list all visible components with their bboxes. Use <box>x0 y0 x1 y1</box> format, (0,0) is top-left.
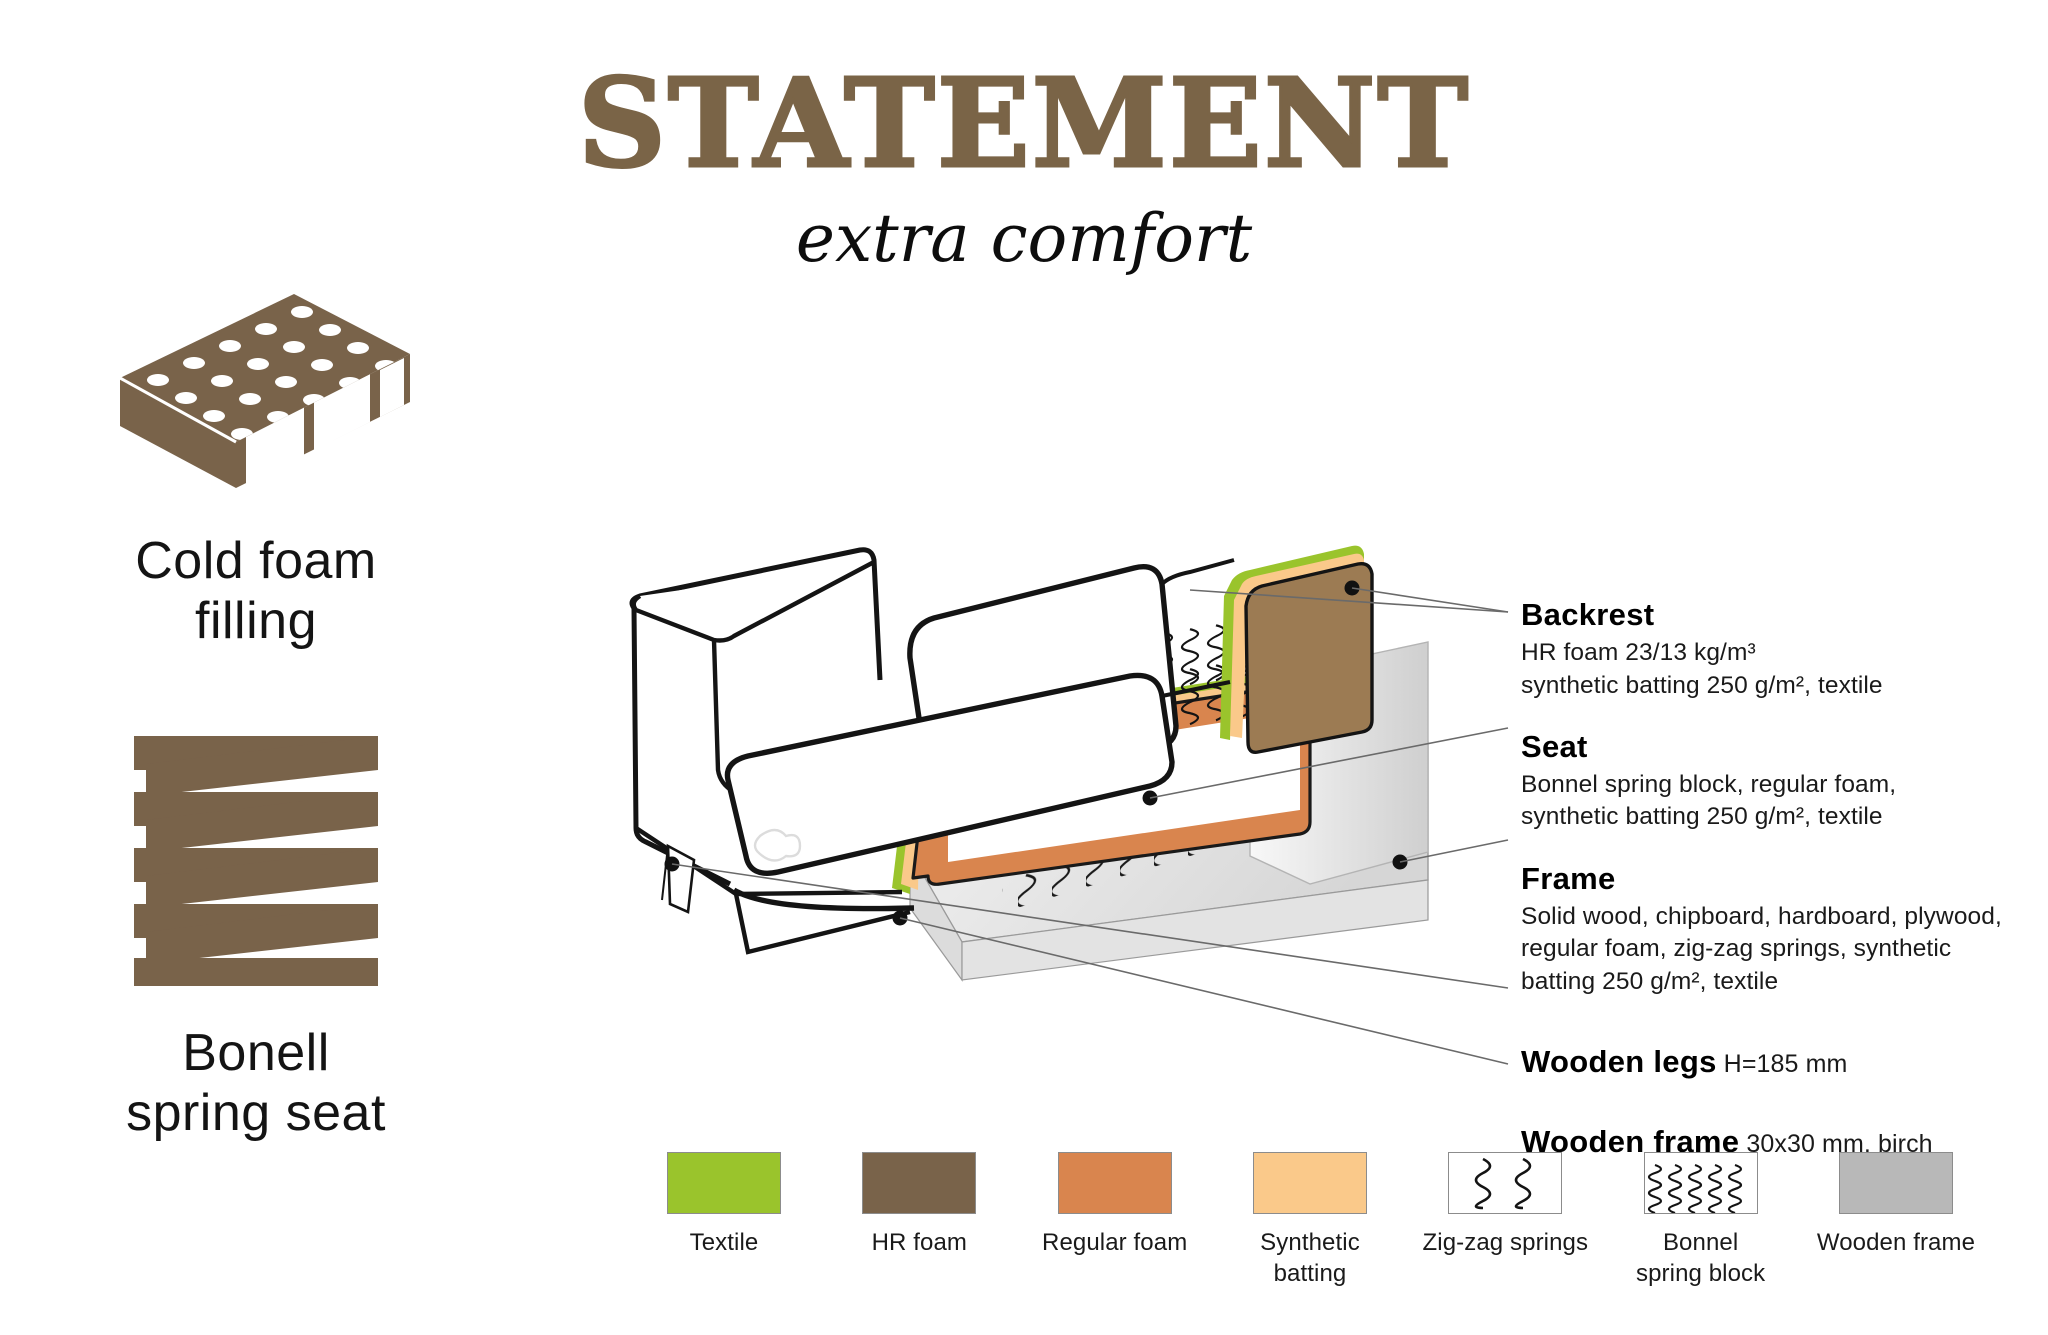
bonell-caption-line2: spring seat <box>46 1083 466 1143</box>
annotation-frame-body: Solid wood, chipboard, hardboard, plywoo… <box>1521 901 2021 998</box>
annotation-frame-line-2: regular foam, zig-zag springs, synthetic <box>1521 933 2021 965</box>
annotation-backrest: Backrest HR foam 23/13 kg/m³ synthetic b… <box>1521 596 2021 702</box>
legend-label-hr-foam: HR foam <box>872 1227 967 1258</box>
annotation-wooden-legs-title: Wooden legs <box>1521 1044 1717 1079</box>
annotation-backrest-title: Backrest <box>1521 596 2021 633</box>
legend-item-bonnel-spring-block: Bonnel spring block <box>1617 1152 1785 1289</box>
legend-label-bonnel-spring-block: Bonnel spring block <box>1636 1227 1765 1289</box>
cold-foam-block-icon <box>60 250 466 505</box>
annotation-seat-body: Bonnel spring block, regular foam, synth… <box>1521 769 2021 834</box>
legend-label-zig-zag-springs: Zig-zag springs <box>1423 1227 1589 1258</box>
annotation-backrest-line-1: HR foam 23/13 kg/m³ <box>1521 637 2021 669</box>
page-title: STATEMENT <box>0 62 2048 184</box>
annotation-seat-title: Seat <box>1521 728 2021 765</box>
annotation-backrest-body: HR foam 23/13 kg/m³ synthetic batting 25… <box>1521 637 2021 702</box>
legend-label-synthetic-batting: Synthetic batting <box>1226 1227 1394 1289</box>
swatch-zig-zag-springs <box>1448 1152 1562 1214</box>
bonell-spring-caption: Bonell spring seat <box>46 1023 466 1144</box>
swatch-bonnel-spring-block <box>1644 1152 1758 1214</box>
anchor-dot-wooden-frame <box>893 911 908 926</box>
cold-foam-caption-line2: filling <box>46 591 466 651</box>
bonell-spring-icon <box>46 730 466 997</box>
legend-item-wooden-frame: Wooden frame <box>1812 1152 1980 1258</box>
annotation-frame-line-3: batting 250 g/m², textile <box>1521 966 2021 998</box>
legend-item-synthetic-batting: Synthetic batting <box>1226 1152 1394 1289</box>
sofa-cutaway-illustration <box>610 480 1430 990</box>
legend-item-regular-foam: Regular foam <box>1031 1152 1199 1258</box>
annotation-seat-line-1: Bonnel spring block, regular foam, <box>1521 769 2021 801</box>
cold-foam-figure: Cold foam filling <box>46 250 466 652</box>
bonell-spring-figure: Bonell spring seat <box>46 730 466 1144</box>
annotation-frame-title: Frame <box>1521 860 2021 897</box>
legend-label-textile: Textile <box>690 1227 759 1258</box>
cold-foam-caption: Cold foam filling <box>46 531 466 652</box>
title-block: STATEMENT extra comfort <box>0 62 2048 272</box>
annotation-wooden-legs: Wooden legs H=185 mm <box>1521 1044 2021 1080</box>
anchor-dot-legs <box>665 857 680 872</box>
legend-label-wooden-frame: Wooden frame <box>1817 1227 1975 1258</box>
swatch-regular-foam <box>1058 1152 1172 1214</box>
anchor-dot-backrest <box>1345 581 1360 596</box>
materials-legend: Textile HR foam Regular foam Synthetic b… <box>640 1152 1980 1289</box>
legend-label-regular-foam: Regular foam <box>1042 1227 1187 1258</box>
annotation-frame-line-1: Solid wood, chipboard, hardboard, plywoo… <box>1521 901 2021 933</box>
legend-item-hr-foam: HR foam <box>835 1152 1003 1258</box>
legend-item-zig-zag-springs: Zig-zag springs <box>1421 1152 1589 1258</box>
annotation-frame: Frame Solid wood, chipboard, hardboard, … <box>1521 860 2021 998</box>
annotation-backrest-line-2: synthetic batting 250 g/m², textile <box>1521 670 2021 702</box>
anchor-dot-seat <box>1143 791 1158 806</box>
annotations-panel: Backrest HR foam 23/13 kg/m³ synthetic b… <box>1521 596 2021 1160</box>
swatch-hr-foam <box>862 1152 976 1214</box>
swatch-textile <box>667 1152 781 1214</box>
anchor-dot-frame <box>1393 855 1408 870</box>
annotation-wooden-legs-dim: H=185 mm <box>1717 1050 1848 1078</box>
legend-item-textile: Textile <box>640 1152 808 1258</box>
annotation-seat-line-2: synthetic batting 250 g/m², textile <box>1521 801 2021 833</box>
cold-foam-caption-line1: Cold foam <box>46 531 466 591</box>
annotation-seat: Seat Bonnel spring block, regular foam, … <box>1521 728 2021 834</box>
bonell-caption-line1: Bonell <box>46 1023 466 1083</box>
swatch-wooden-frame <box>1839 1152 1953 1214</box>
swatch-synthetic-batting <box>1253 1152 1367 1214</box>
left-figures-column: Cold foam filling Bonell <box>46 250 466 1143</box>
